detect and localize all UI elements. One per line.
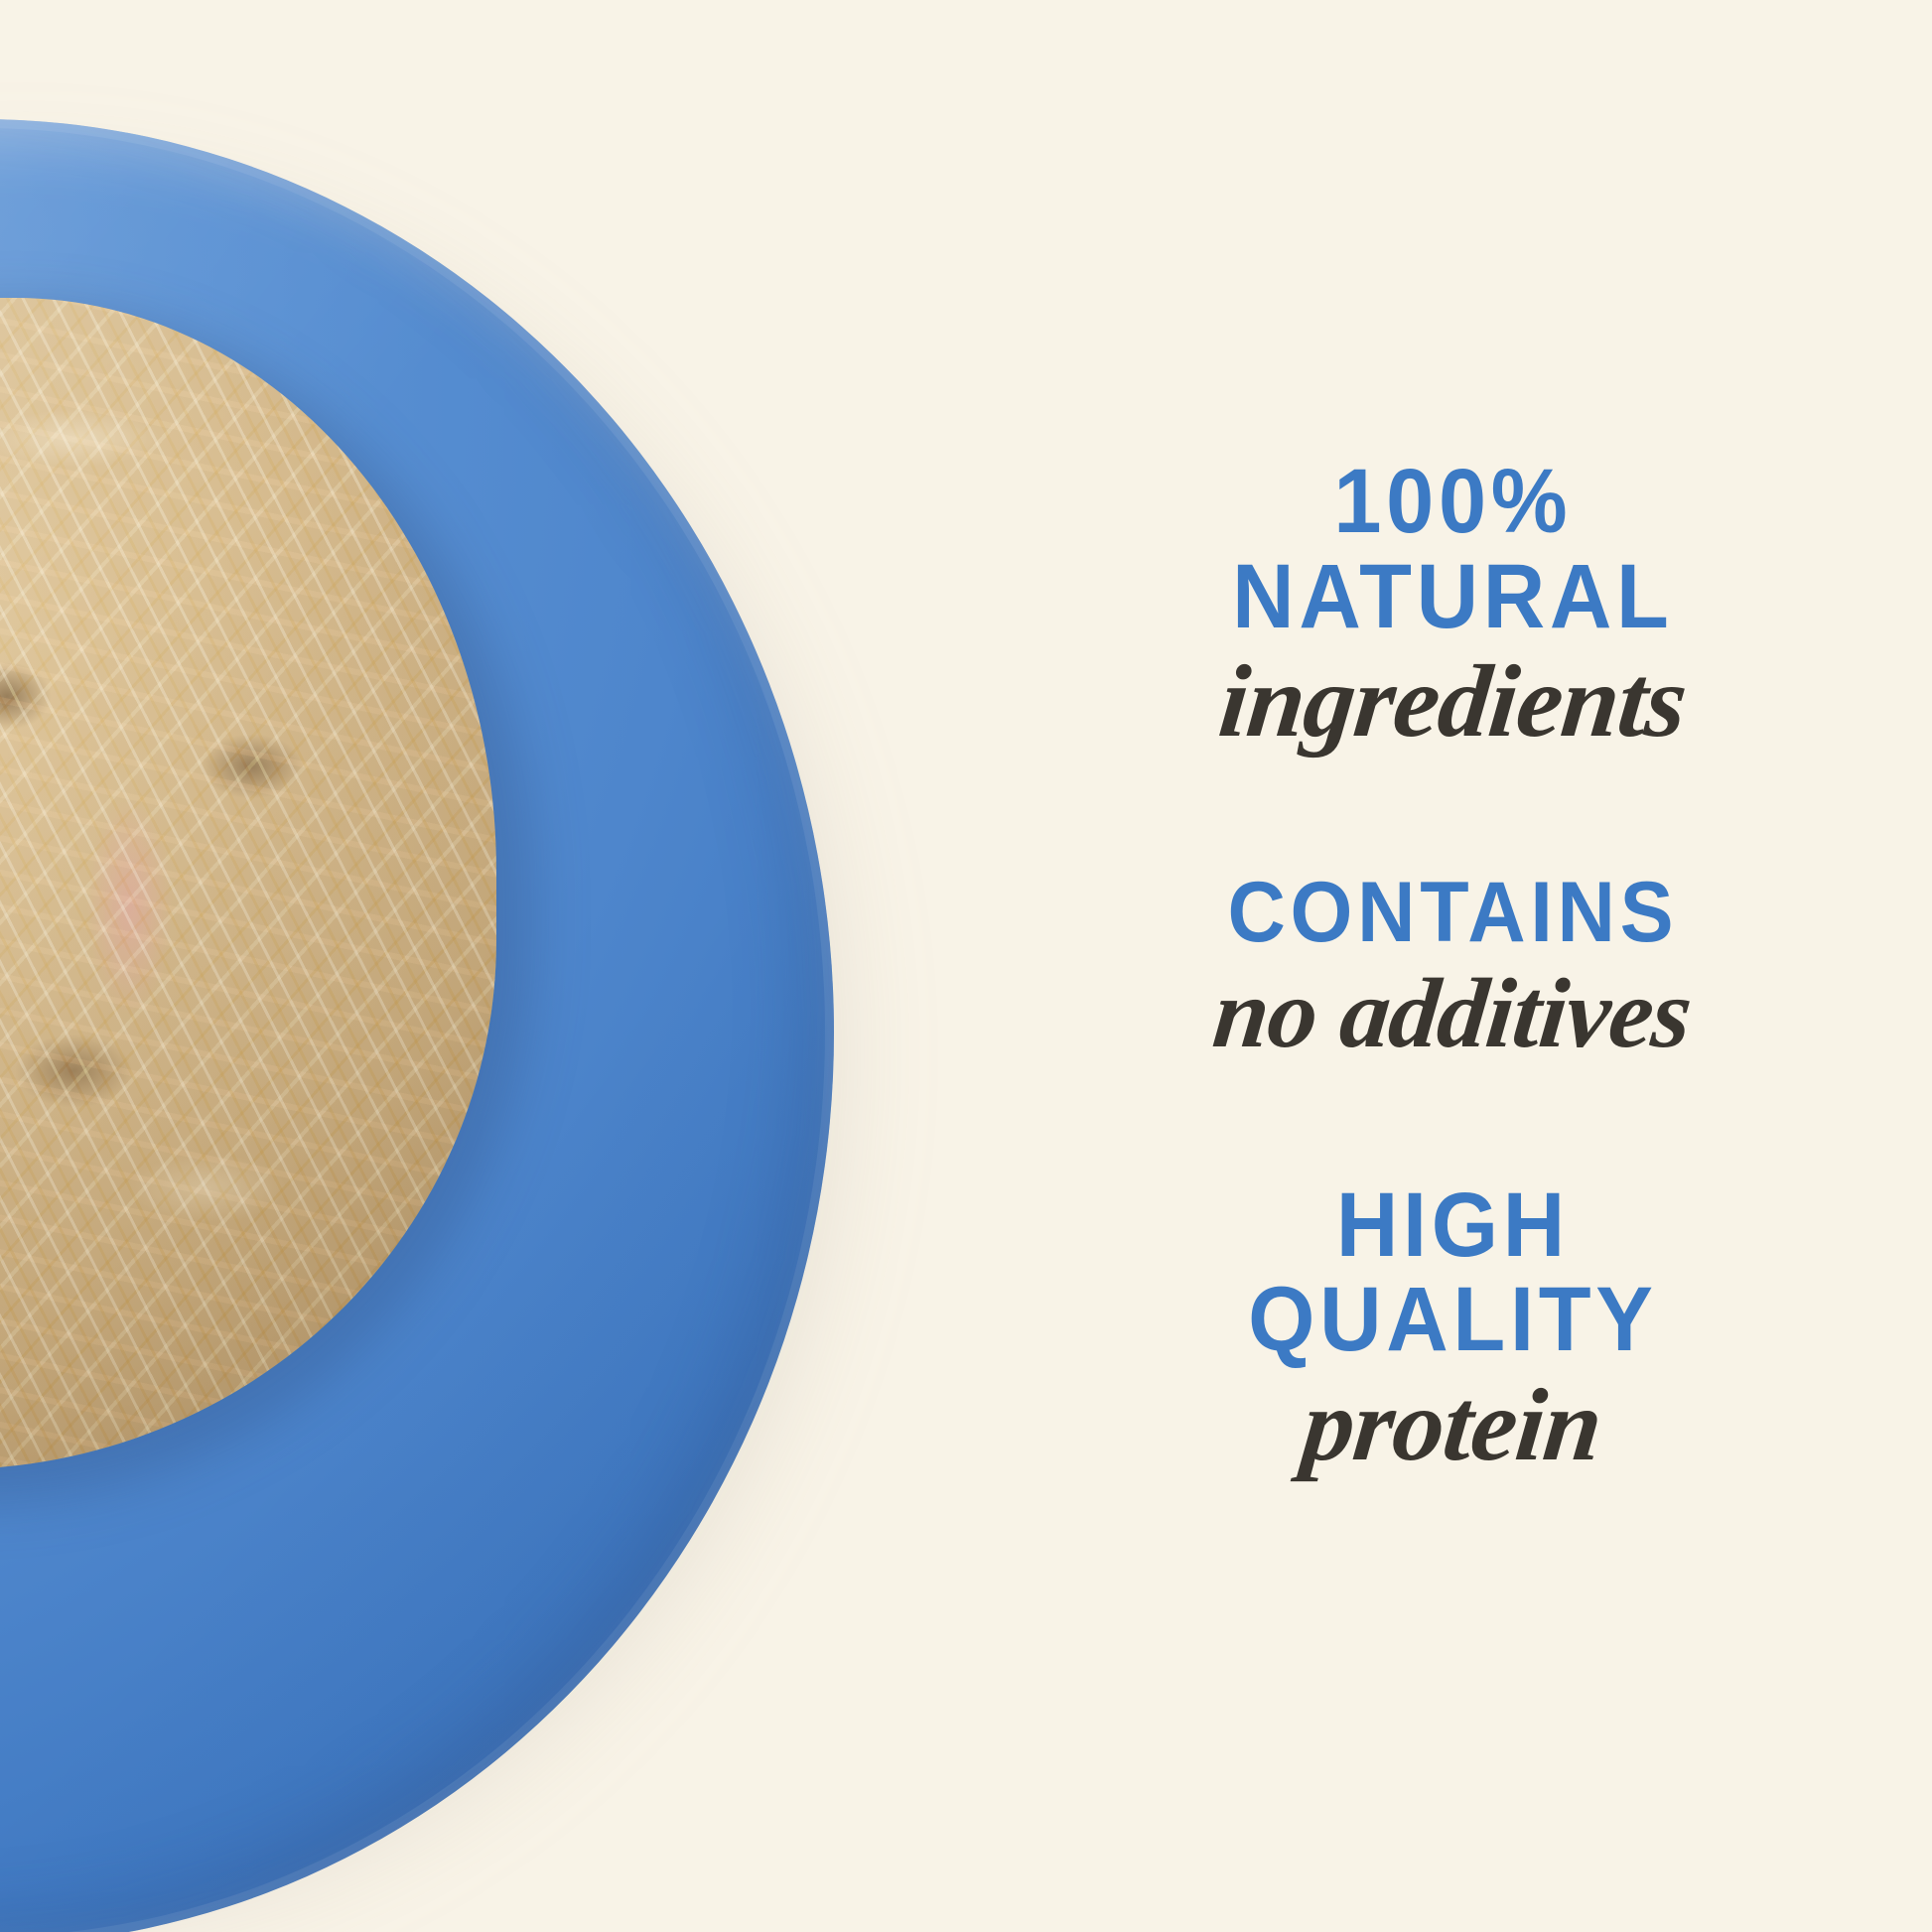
tuna-gloss xyxy=(0,298,496,1469)
claim-3-script: protein xyxy=(1299,1374,1606,1477)
plate-photo xyxy=(0,0,973,1932)
claim-2-kicker: CONTAINS xyxy=(1227,869,1678,957)
claim-1-kicker: 100% NATURAL xyxy=(1232,455,1673,644)
claim-1-script: ingredients xyxy=(1214,650,1691,754)
product-benefits-graphic: 100% NATURAL ingredients CONTAINS no add… xyxy=(0,0,1932,1932)
claim-3-kicker: HIGH QUALITY xyxy=(1248,1178,1657,1368)
shredded-tuna xyxy=(0,298,496,1469)
claims-panel: 100% NATURAL ingredients CONTAINS no add… xyxy=(973,0,1932,1932)
claim-no-additives: CONTAINS no additives xyxy=(973,869,1932,1062)
food-portion xyxy=(0,298,496,1469)
claim-high-quality-protein: HIGH QUALITY protein xyxy=(973,1178,1932,1477)
claim-natural-ingredients: 100% NATURAL ingredients xyxy=(973,455,1932,754)
claim-2-script: no additives xyxy=(1209,964,1696,1063)
